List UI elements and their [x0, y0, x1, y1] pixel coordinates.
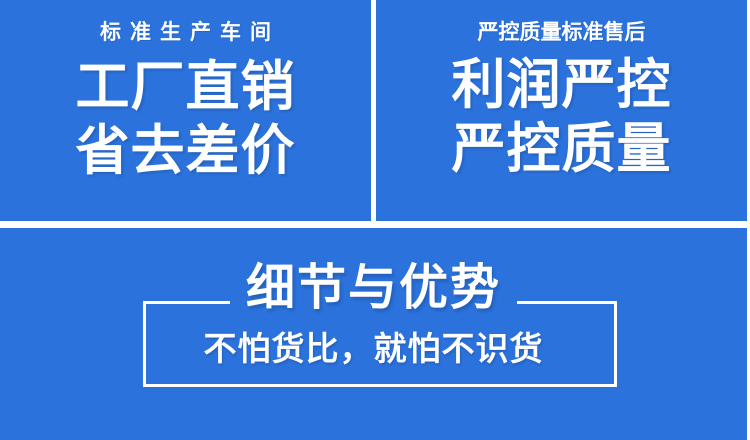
- panel-top-left-content: 标准生产车间 工厂直销 省去差价: [0, 0, 371, 221]
- bottom-title-text: 细节与优势: [230, 260, 517, 319]
- bottom-title-wrapper: 细节与优势: [0, 260, 747, 319]
- right-headline-line-2: 严控质量: [452, 119, 672, 179]
- left-headline-line-1: 工厂直销: [76, 57, 296, 117]
- promo-banner: 标准生产车间 工厂直销 省去差价 严控质量标准售后 利润严控 严控质量 细节与优…: [0, 0, 750, 440]
- bottom-subtitle-text: 不怕货比，就怕不识货: [0, 332, 747, 365]
- panel-top-right-content: 严控质量标准售后 利润严控 严控质量: [376, 0, 747, 221]
- panel-bottom: 细节与优势 不怕货比，就怕不识货: [0, 228, 747, 440]
- right-eyebrow-text: 严控质量标准售后: [478, 22, 646, 43]
- panel-top-left: 标准生产车间 工厂直销 省去差价: [0, 0, 371, 221]
- left-headline-line-2: 省去差价: [76, 121, 296, 181]
- panel-bottom-content: 细节与优势 不怕货比，就怕不识货: [0, 228, 747, 440]
- panel-top-right: 严控质量标准售后 利润严控 严控质量: [376, 0, 747, 221]
- right-headline-line-1: 利润严控: [452, 55, 672, 115]
- left-eyebrow-text: 标准生产车间: [91, 22, 280, 43]
